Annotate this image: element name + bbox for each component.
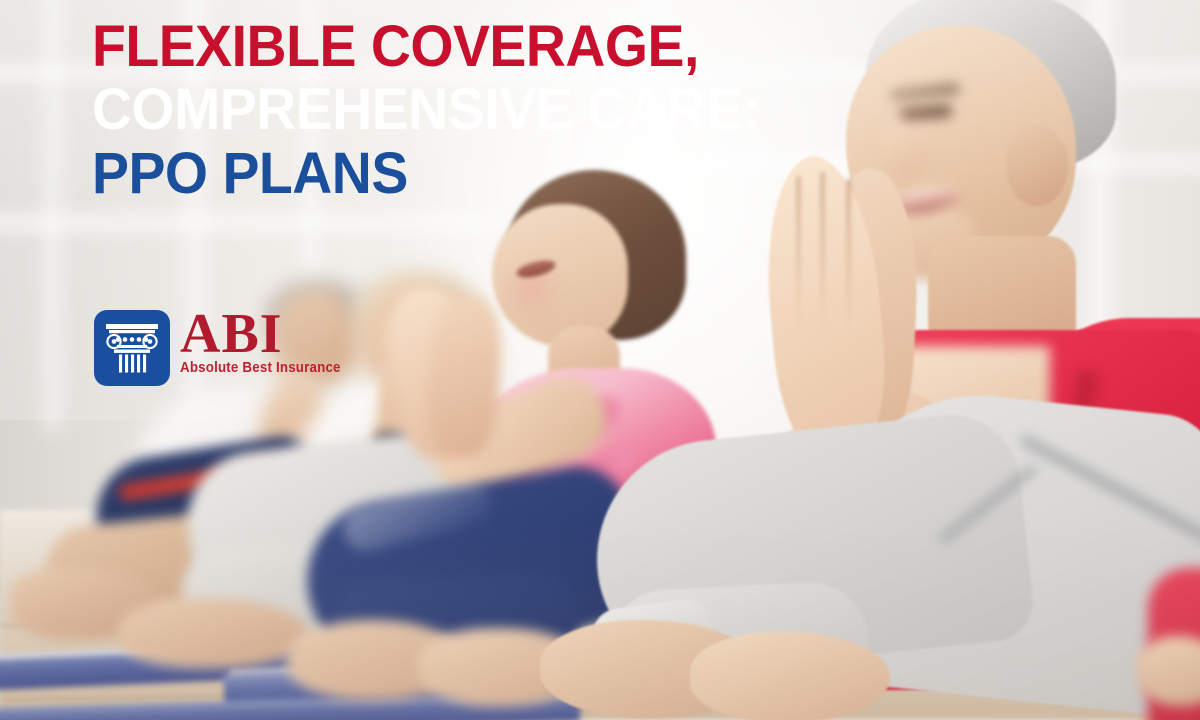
abi-logo-mark: [94, 310, 170, 386]
abi-logo-text: ABI Absolute Best Insurance: [180, 310, 355, 376]
headline-line-1: FLEXIBLE COVERAGE,: [92, 18, 875, 75]
headline-block: FLEXIBLE COVERAGE, COMPREHENSIVE CARE: P…: [92, 18, 912, 202]
ppo-plans-marketing-banner: FLEXIBLE COVERAGE, COMPREHENSIVE CARE: P…: [0, 0, 1200, 720]
headline-line-2: COMPREHENSIVE CARE:: [92, 81, 875, 138]
ionic-column-icon: [101, 317, 163, 379]
abi-tagline: Absolute Best Insurance: [180, 361, 341, 376]
headline-line-3: PPO PLANS: [92, 145, 875, 202]
abi-logo[interactable]: ABI Absolute Best Insurance: [94, 310, 355, 386]
abi-wordmark: ABI: [180, 310, 283, 359]
